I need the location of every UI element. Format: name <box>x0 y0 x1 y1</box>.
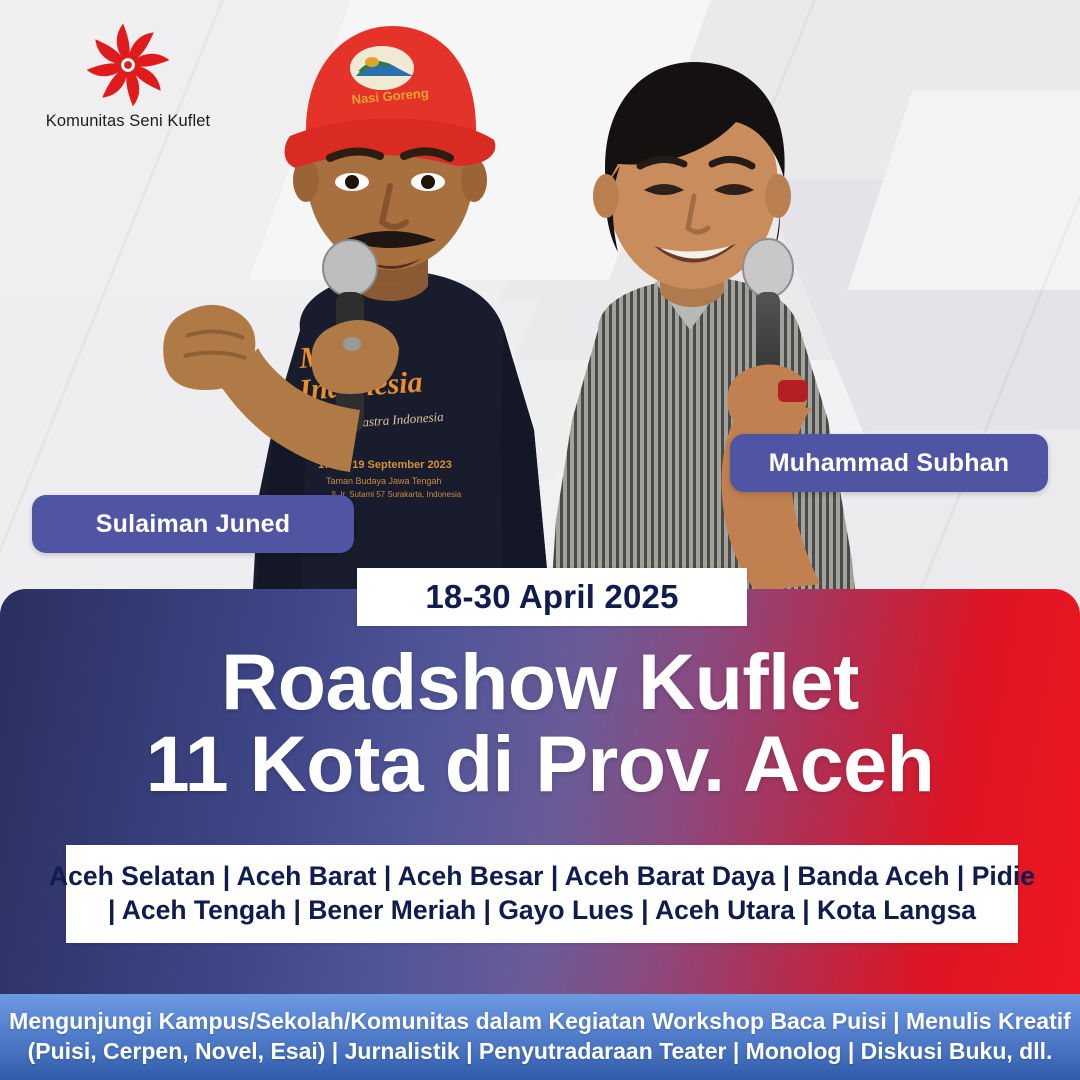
speaker-right-figure <box>548 62 860 640</box>
date-badge: 18-30 April 2025 <box>357 568 747 626</box>
date-text: 18-30 April 2025 <box>425 578 678 616</box>
footer-line-1: Mengunjungi Kampus/Sekolah/Komunitas dal… <box>9 1007 1071 1037</box>
poster-canvas: Komunitas Seni Kuflet <box>0 0 1080 1080</box>
cities-line-1: Aceh Selatan | Aceh Barat | Aceh Besar |… <box>49 860 1035 894</box>
svg-text:Taman Budaya Jawa Tengah: Taman Budaya Jawa Tengah <box>326 476 441 486</box>
page-title: Roadshow Kuflet 11 Kota di Prov. Aceh <box>0 644 1080 802</box>
speaker-badge-left-label: Sulaiman Juned <box>96 510 291 539</box>
footer-line-2: (Puisi, Cerpen, Novel, Esai) | Jurnalist… <box>28 1037 1053 1067</box>
title-line-1: Roadshow Kuflet <box>0 644 1080 720</box>
svg-text:Jl. Ir. Sutami 57 Surakarta, I: Jl. Ir. Sutami 57 Surakarta, Indonesia <box>330 490 462 499</box>
cities-box: Aceh Selatan | Aceh Barat | Aceh Besar |… <box>66 845 1018 943</box>
cities-line-2: | Aceh Tengah | Bener Meriah | Gayo Lues… <box>108 894 976 928</box>
brand-name: Komunitas Seni Kuflet <box>46 112 210 131</box>
speaker-badge-right-label: Muhammad Subhan <box>769 449 1010 478</box>
footer-banner: Mengunjungi Kampus/Sekolah/Komunitas dal… <box>0 994 1080 1080</box>
title-line-2: 11 Kota di Prov. Aceh <box>0 726 1080 802</box>
speaker-badge-right[interactable]: Muhammad Subhan <box>730 434 1048 492</box>
pinwheel-spiral-icon <box>85 22 171 108</box>
brand-logo: Komunitas Seni Kuflet <box>18 22 238 131</box>
speaker-badge-left[interactable]: Sulaiman Juned <box>32 495 354 553</box>
